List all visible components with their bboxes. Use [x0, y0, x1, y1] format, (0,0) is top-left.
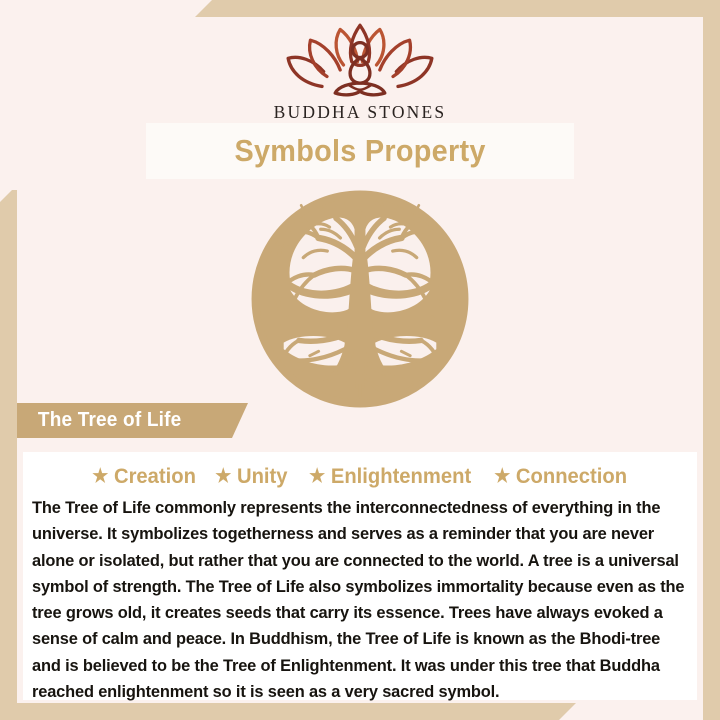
keyword-label: Connection: [516, 464, 627, 489]
medallion-container: [0, 190, 720, 408]
keyword-label: Unity: [237, 464, 288, 489]
tree-of-life-icon: [251, 190, 469, 408]
keyword-item: ★ Unity: [215, 464, 287, 489]
section-label-text: The Tree of Life: [17, 409, 181, 432]
lotus-meditation-figure-icon: [275, 22, 445, 98]
star-icon: ★: [309, 467, 325, 486]
keyword-item: ★ Connection: [494, 464, 627, 489]
frame-accent-top: [195, 0, 720, 17]
infographic-page: BUDDHA STONES Symbols Property: [0, 0, 720, 720]
content-card: ★ Creation ★ Unity ★ Enlightenment ★ Con…: [23, 452, 697, 700]
keyword-item: ★ Creation: [92, 464, 196, 489]
header-banner: Symbols Property: [146, 123, 574, 179]
page-title: Symbols Property: [234, 133, 485, 169]
keyword-item: ★ Enlightenment: [309, 464, 471, 489]
brand-logo-block: BUDDHA STONES: [0, 22, 720, 123]
star-icon: ★: [215, 467, 231, 486]
brand-wordmark: BUDDHA STONES: [0, 102, 720, 123]
frame-accent-bottom: [0, 703, 576, 720]
keyword-label: Creation: [114, 464, 196, 489]
keyword-label: Enlightenment: [331, 464, 471, 489]
star-icon: ★: [92, 467, 108, 486]
star-icon: ★: [494, 467, 510, 486]
keywords-row: ★ Creation ★ Unity ★ Enlightenment ★ Con…: [23, 452, 697, 489]
section-label-ribbon: The Tree of Life: [17, 403, 248, 438]
body-paragraph: The Tree of Life commonly represents the…: [23, 495, 697, 705]
